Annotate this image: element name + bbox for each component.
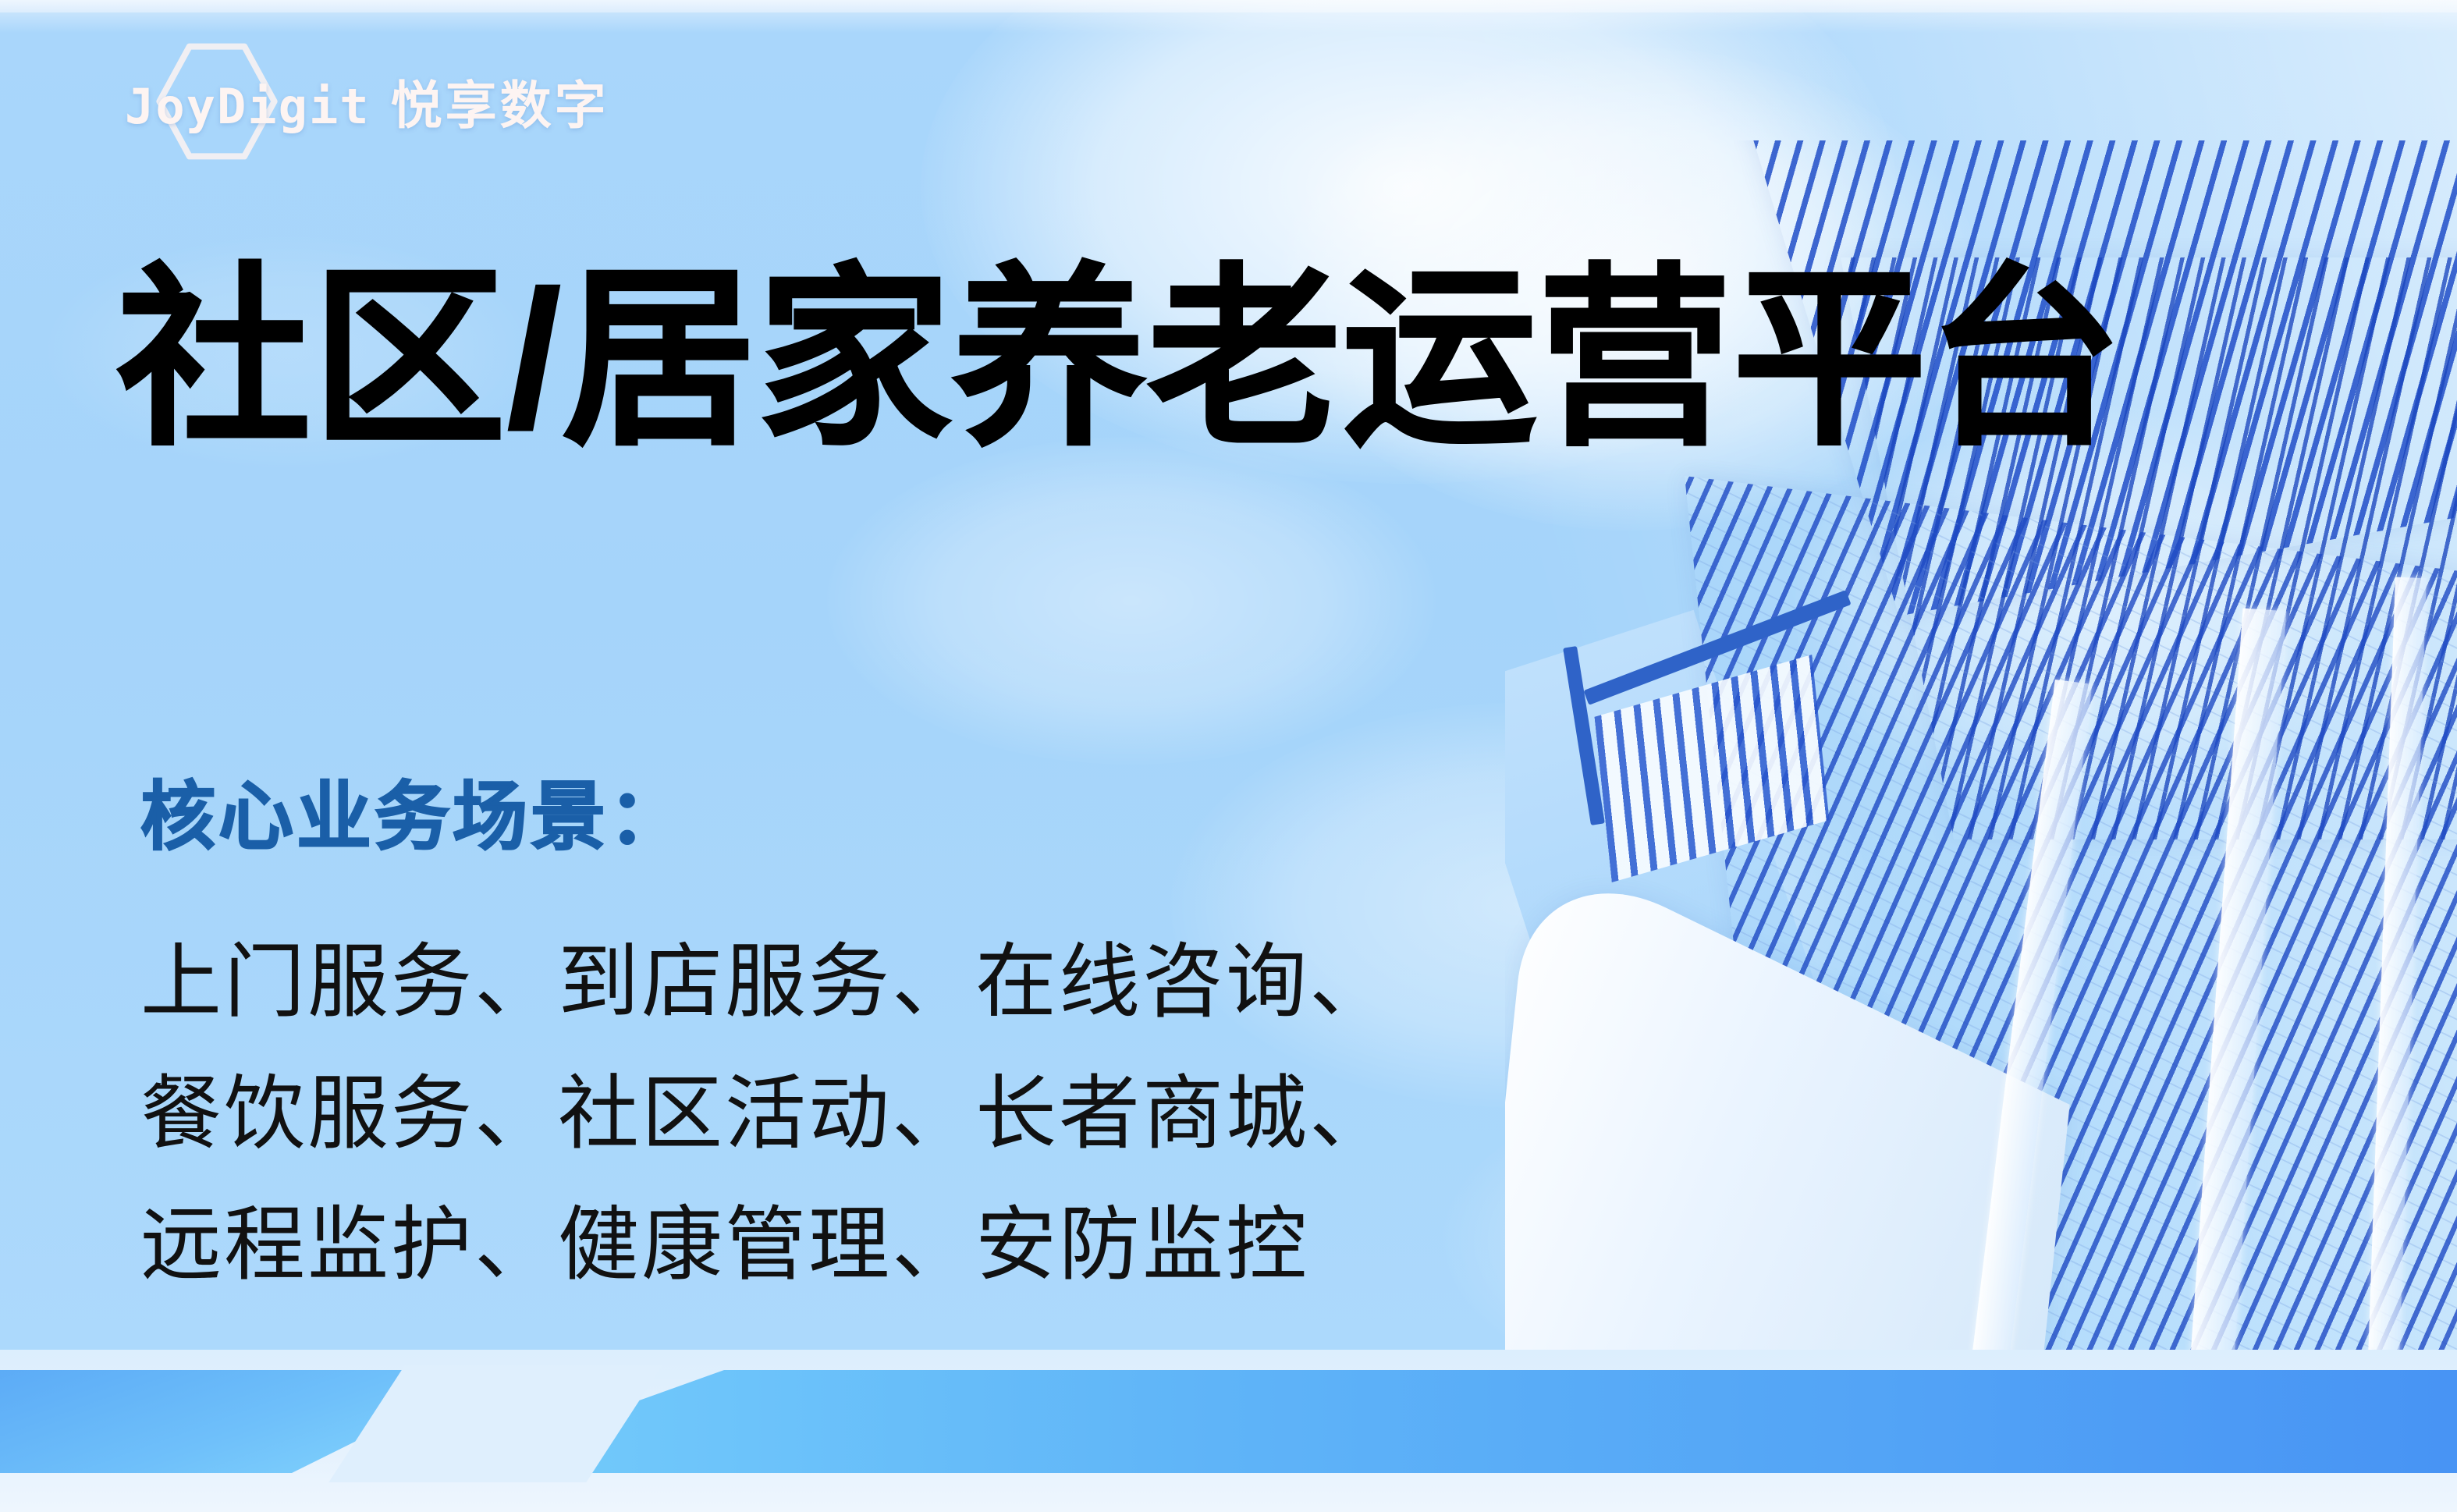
logo-chinese-text: 悦享数字	[391, 64, 609, 139]
logo-wordmark: JoyDigit 悦享数字	[125, 64, 609, 139]
bottom-decorative-band	[0, 1350, 2457, 1512]
scenario-line: 上门服务、到店服务、在线咨询、	[140, 917, 1393, 1048]
scenario-list: 上门服务、到店服务、在线咨询、 餐饮服务、社区活动、长者商城、 远程监护、健康管…	[140, 917, 1393, 1311]
logo-latin-text: JoyDigit	[125, 78, 371, 135]
content-block: 核心业务场景： 上门服务、到店服务、在线咨询、 餐饮服务、社区活动、长者商城、 …	[140, 772, 1393, 1311]
brand-logo: JoyDigit 悦享数字	[125, 55, 609, 148]
presentation-slide: JoyDigit 悦享数字 社区/居家养老运营平台 核心业务场景： 上门服务、到…	[0, 0, 2457, 1512]
band-right-parallelogram	[437, 1370, 2457, 1473]
page-title: 社区/居家养老运营平台	[117, 257, 2123, 460]
scenario-line: 餐饮服务、社区活动、长者商城、	[140, 1049, 1393, 1180]
section-subheading: 核心业务场景：	[140, 772, 1393, 862]
scenario-line: 远程监护、健康管理、安防监控	[140, 1180, 1393, 1311]
